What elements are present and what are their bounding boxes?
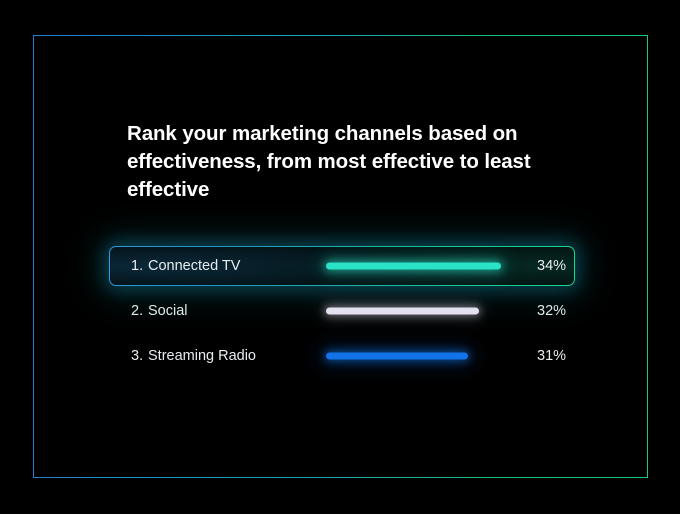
bar-track xyxy=(326,262,506,269)
bar-fill xyxy=(326,262,501,269)
bar-track xyxy=(326,352,506,359)
slide-frame: Rank your marketing channels based on ef… xyxy=(33,35,648,478)
channel-name: Streaming Radio xyxy=(148,348,256,364)
rank-index: 3. xyxy=(131,348,148,364)
bar-fill xyxy=(326,352,468,359)
bar-fill xyxy=(326,307,479,314)
rank-index: 1. xyxy=(131,258,148,274)
page-title: Rank your marketing channels based on ef… xyxy=(127,120,537,204)
list-item-content: 3. Streaming Radio 31% xyxy=(131,333,647,378)
percent-value: 31% xyxy=(537,348,566,364)
rank-label: 1. Connected TV xyxy=(131,258,240,274)
rank-label: 3. Streaming Radio xyxy=(131,348,256,364)
list-item-content: 1. Connected TV 34% xyxy=(131,243,647,288)
slide-canvas: Rank your marketing channels based on ef… xyxy=(34,36,647,477)
ranking-list: 1. Connected TV 34% 2. Social xyxy=(34,243,647,378)
percent-value: 34% xyxy=(537,258,566,274)
rank-index: 2. xyxy=(131,303,148,319)
channel-name: Social xyxy=(148,303,188,319)
list-item[interactable]: 1. Connected TV 34% xyxy=(34,243,647,288)
bar-track xyxy=(326,307,506,314)
list-item[interactable]: 2. Social 32% xyxy=(34,288,647,333)
channel-name: Connected TV xyxy=(148,258,240,274)
list-item[interactable]: 3. Streaming Radio 31% xyxy=(34,333,647,378)
percent-value: 32% xyxy=(537,303,566,319)
list-item-content: 2. Social 32% xyxy=(131,288,647,333)
rank-label: 2. Social xyxy=(131,303,188,319)
